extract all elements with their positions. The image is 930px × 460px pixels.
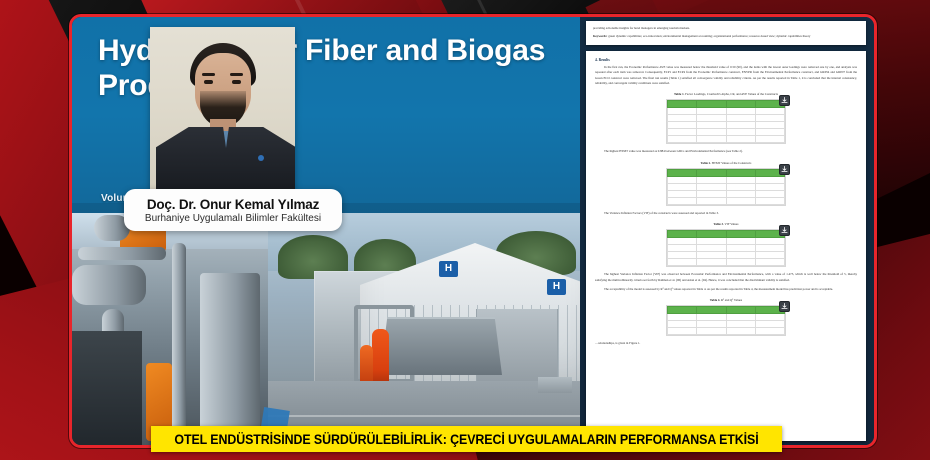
table-3-caption-text: VIF Values	[724, 222, 739, 226]
table-row	[668, 183, 785, 190]
table-row	[668, 245, 785, 252]
abstract-tail-text: providing actionable insights for hotel …	[593, 26, 859, 31]
cover-photo-strip: H H	[72, 213, 580, 445]
table-1-caption-text: Factor Loadings, Cronbach's Alpha, CR, a…	[684, 92, 778, 96]
keywords-text: green dynamic capabilities; eco-innovati…	[608, 34, 810, 38]
table-2	[666, 168, 786, 206]
table-2-label: Table 2.	[701, 161, 711, 165]
photo-container-hopper	[380, 317, 502, 375]
table-2-caption: Table 2. HTMT Values of the Constructs	[595, 161, 857, 165]
table-row	[668, 101, 785, 108]
speaker-affiliation: Burhaniye Uygulamalı Bilimler Fakültesi	[145, 213, 321, 224]
portrait-brow-right	[230, 73, 243, 76]
table-2-grid	[667, 169, 785, 205]
results-page-card: 4. Results In the first run, the Economi…	[586, 51, 866, 441]
table-row	[668, 115, 785, 122]
results-paragraph-1: In the first run, the Economic Performan…	[595, 65, 857, 87]
table-4-grid	[667, 306, 785, 335]
results-paragraph-5: The acceptability of the model is assess…	[595, 287, 857, 292]
table-1-caption: Table 1. Factor Loadings, Cronbach's Alp…	[595, 92, 857, 96]
results-paragraph-6: …relationships, is given in Figure 1.	[595, 341, 857, 346]
portrait-brow-left	[202, 73, 215, 76]
table-1	[666, 99, 786, 144]
download-icon	[781, 303, 788, 310]
download-table-3-button[interactable]	[779, 225, 790, 236]
photo-worker-1	[372, 329, 389, 387]
table-1-grid	[667, 100, 785, 143]
table-row	[668, 238, 785, 245]
results-paragraph-3: The Variance Inflation Factors (VIF) of …	[595, 211, 857, 216]
table-row	[668, 169, 785, 176]
headline-banner: OTEL ENDÜSTRİSİNDE SÜRDÜRÜLEBİLİRLİK: ÇE…	[151, 426, 782, 452]
table-4-caption: Table 4. R² and Q² Values	[595, 298, 857, 302]
table-row	[668, 129, 785, 136]
table-4-label: Table 4.	[710, 298, 720, 302]
download-table-4-button[interactable]	[779, 301, 790, 312]
portrait-eye-right	[232, 80, 241, 84]
abstract-keywords-card: providing actionable insights for hotel …	[586, 21, 866, 45]
photo-pipe-2	[78, 247, 166, 260]
table-row	[668, 136, 785, 143]
download-table-2-button[interactable]	[779, 164, 790, 175]
download-table-1-button[interactable]	[779, 95, 790, 106]
photo-ground-line	[268, 415, 580, 417]
table-4	[666, 305, 786, 336]
table-2-caption-text: HTMT Values of the Constructs	[711, 161, 751, 165]
table-row	[668, 314, 785, 321]
content-frame: Hydrolysis for Fiber and Biogas Producti…	[69, 14, 877, 448]
facility-logo-icon-2: H	[547, 279, 566, 295]
results-paragraph-2: The highest HTMT value was measured as 0…	[595, 149, 857, 154]
table-1-label: Table 1.	[674, 92, 684, 96]
document-pane[interactable]: providing actionable insights for hotel …	[580, 17, 874, 445]
frame-inner: Hydrolysis for Fiber and Biogas Producti…	[72, 17, 874, 445]
biogas-facility-photo: H H	[268, 213, 580, 445]
photo-equipment	[200, 273, 260, 443]
results-paragraph-4: The highest Variance Inflation Factor (V…	[595, 272, 857, 283]
table-3-grid	[667, 230, 785, 266]
table-row	[668, 307, 785, 314]
download-icon	[781, 97, 788, 104]
table-row	[668, 108, 785, 115]
table-row	[668, 252, 785, 259]
portrait-eye-left	[204, 80, 213, 84]
table-3	[666, 229, 786, 267]
table-3-caption: Table 3. VIF Values	[595, 222, 857, 226]
table-row	[668, 328, 785, 335]
table-row	[668, 190, 785, 197]
table-row	[668, 321, 785, 328]
facility-logo-icon-1: H	[439, 261, 458, 277]
download-icon	[781, 166, 788, 173]
photo-tank	[72, 265, 146, 305]
speaker-name: Doç. Dr. Onur Kemal Yılmaz	[147, 197, 319, 212]
table-row	[668, 197, 785, 204]
speaker-portrait	[150, 27, 295, 205]
industrial-plant-photo	[72, 213, 268, 445]
download-icon	[781, 227, 788, 234]
table-4-caption-text: R² and Q² Values	[720, 298, 742, 302]
photo-vertical-pipe	[172, 243, 186, 443]
table-row	[668, 231, 785, 238]
speaker-name-card: Doç. Dr. Onur Kemal Yılmaz Burhaniye Uyg…	[124, 189, 342, 231]
portrait-lapel-pin	[258, 155, 264, 161]
photo-dark-structure	[72, 331, 142, 445]
table-row	[668, 122, 785, 129]
results-section-heading: 4. Results	[595, 58, 857, 62]
table-3-label: Table 3.	[713, 222, 723, 226]
journal-cover: Hydrolysis for Fiber and Biogas Producti…	[72, 17, 580, 445]
keywords-label: Keywords:	[593, 34, 607, 38]
table-row	[668, 176, 785, 183]
keywords-line: Keywords: green dynamic capabilities; ec…	[593, 34, 859, 39]
headline-text: OTEL ENDÜSTRİSİNDE SÜRDÜRÜLEBİLİRLİK: ÇE…	[174, 432, 758, 447]
table-row	[668, 259, 785, 266]
photo-concrete-block	[538, 377, 572, 393]
